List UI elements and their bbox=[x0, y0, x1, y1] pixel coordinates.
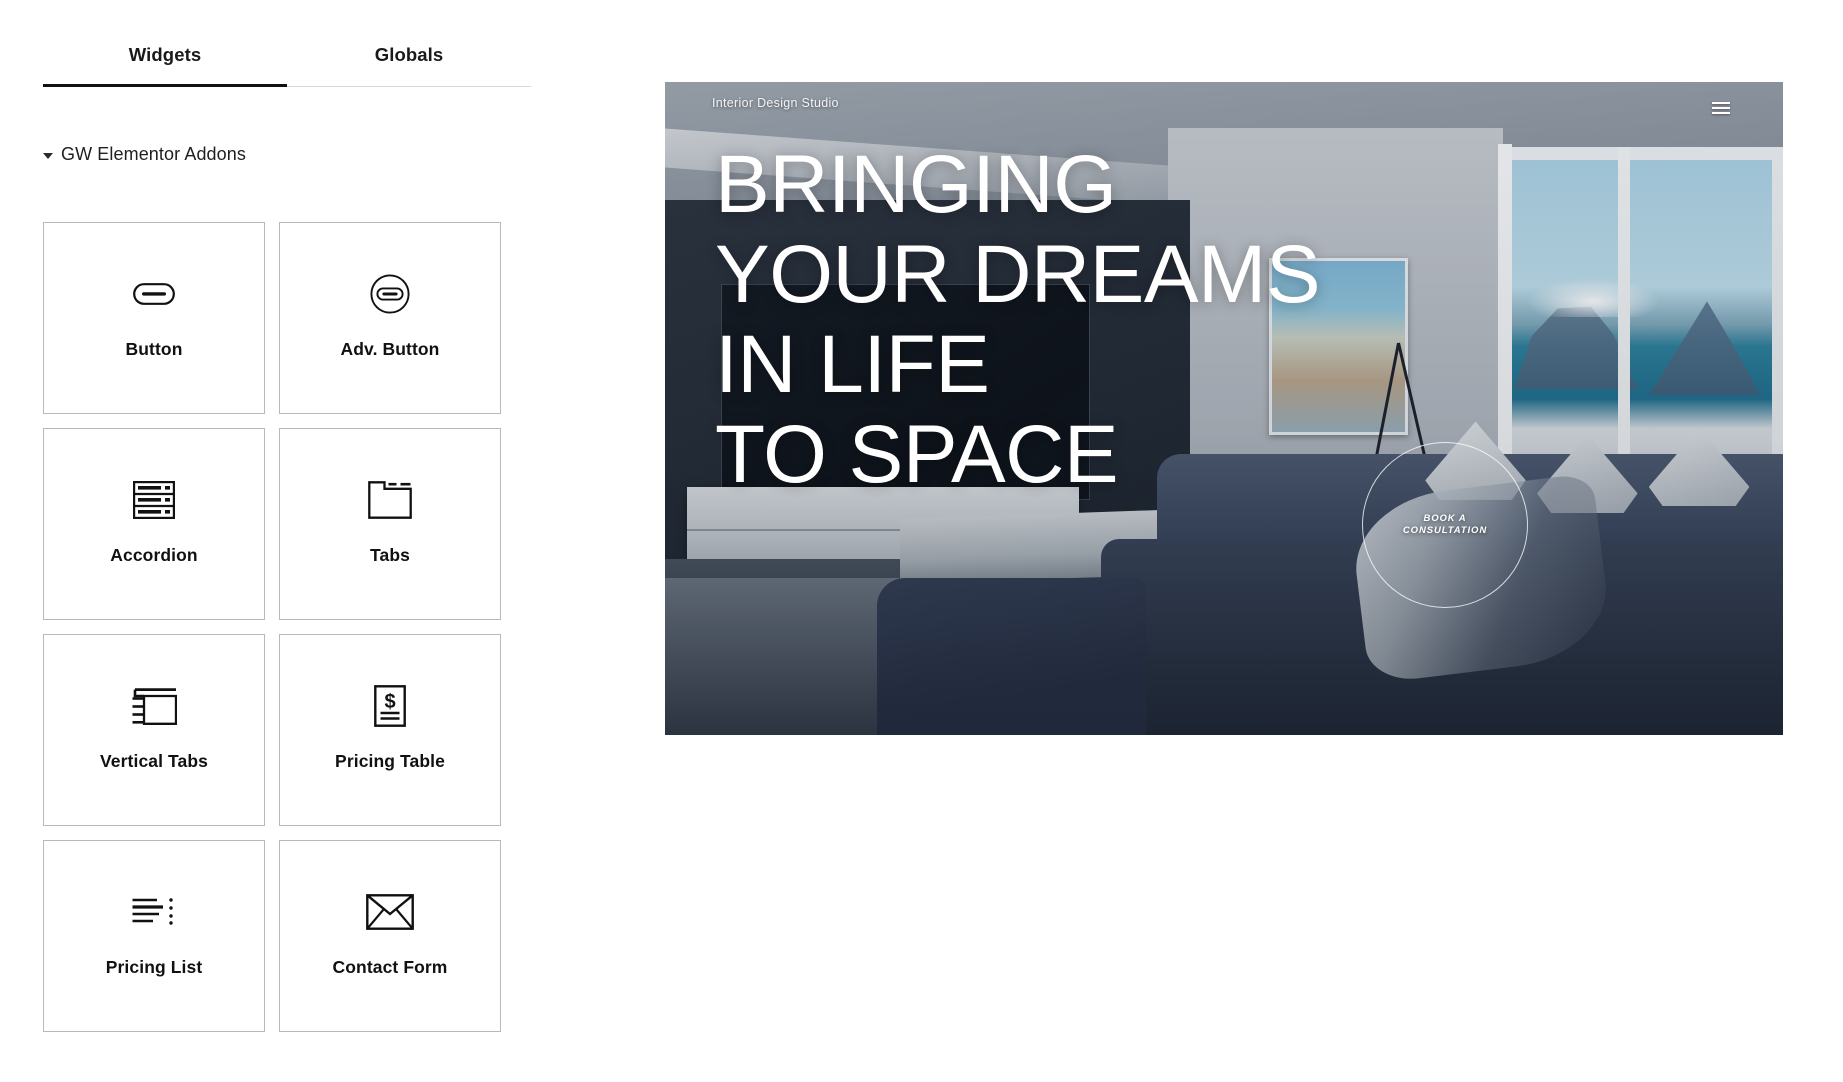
page-preview-area: Interior Design Studio BRINGING YOUR DRE… bbox=[560, 0, 1843, 1082]
hero-section[interactable]: Interior Design Studio BRINGING YOUR DRE… bbox=[665, 82, 1783, 735]
rounded-button-icon bbox=[133, 271, 175, 317]
panel-tabs: Widgets Globals bbox=[43, 44, 531, 87]
svg-text:$: $ bbox=[384, 691, 395, 713]
widget-grid: Button Adv. Button bbox=[43, 222, 531, 1032]
badge-line-1: BOOK A bbox=[1403, 513, 1487, 525]
headline-line-1: BRINGING bbox=[715, 140, 1415, 230]
chevron-down-icon bbox=[43, 153, 53, 159]
folder-tab-icon bbox=[368, 477, 412, 523]
badge-line-2: CONSULTATION bbox=[1403, 525, 1487, 537]
widget-card-adv-button[interactable]: Adv. Button bbox=[279, 222, 501, 414]
tab-globals[interactable]: Globals bbox=[287, 44, 531, 87]
widget-card-contact-form[interactable]: Contact Form bbox=[279, 840, 501, 1032]
widget-card-pricing-table[interactable]: $ Pricing Table bbox=[279, 634, 501, 826]
circle-button-icon bbox=[370, 271, 410, 317]
widget-card-button[interactable]: Button bbox=[43, 222, 265, 414]
widget-card-vertical-tabs[interactable]: Vertical Tabs bbox=[43, 634, 265, 826]
hero-headline: BRINGING YOUR DREAMS IN LIFE TO SPACE bbox=[715, 140, 1415, 500]
headline-line-4: TO SPACE bbox=[715, 410, 1415, 500]
widget-label: Adv. Button bbox=[341, 339, 440, 359]
widget-label: Vertical Tabs bbox=[100, 751, 208, 771]
headline-line-3: IN LIFE bbox=[715, 320, 1415, 410]
dollar-card-icon: $ bbox=[374, 683, 406, 729]
widget-label: Accordion bbox=[110, 545, 197, 565]
widget-label: Pricing Table bbox=[335, 751, 445, 771]
accordion-rows-icon bbox=[133, 477, 175, 523]
widgets-panel: Widgets Globals GW Elementor Addons Butt… bbox=[0, 0, 560, 1082]
widget-label: Contact Form bbox=[333, 957, 448, 977]
pricing-list-icon bbox=[131, 889, 177, 935]
widget-group-title: GW Elementor Addons bbox=[61, 144, 246, 165]
hero-brand-name: Interior Design Studio bbox=[712, 96, 839, 110]
envelope-icon bbox=[366, 889, 414, 935]
badge-label: BOOK A CONSULTATION bbox=[1403, 513, 1487, 537]
widget-label: Tabs bbox=[370, 545, 410, 565]
widget-card-tabs[interactable]: Tabs bbox=[279, 428, 501, 620]
vertical-tabs-icon bbox=[131, 683, 177, 729]
widget-card-accordion[interactable]: Accordion bbox=[43, 428, 265, 620]
tab-widgets[interactable]: Widgets bbox=[43, 44, 287, 87]
widget-card-pricing-list[interactable]: Pricing List bbox=[43, 840, 265, 1032]
hamburger-menu-icon[interactable] bbox=[1712, 102, 1730, 114]
book-consultation-badge[interactable]: BOOK A CONSULTATION bbox=[1362, 442, 1528, 608]
widget-label: Button bbox=[126, 339, 183, 359]
elementor-widget-panel-screen: Widgets Globals GW Elementor Addons Butt… bbox=[0, 0, 1843, 1082]
widget-group-header[interactable]: GW Elementor Addons bbox=[43, 144, 246, 165]
headline-line-2: YOUR DREAMS bbox=[715, 230, 1415, 320]
widget-label: Pricing List bbox=[106, 957, 203, 977]
